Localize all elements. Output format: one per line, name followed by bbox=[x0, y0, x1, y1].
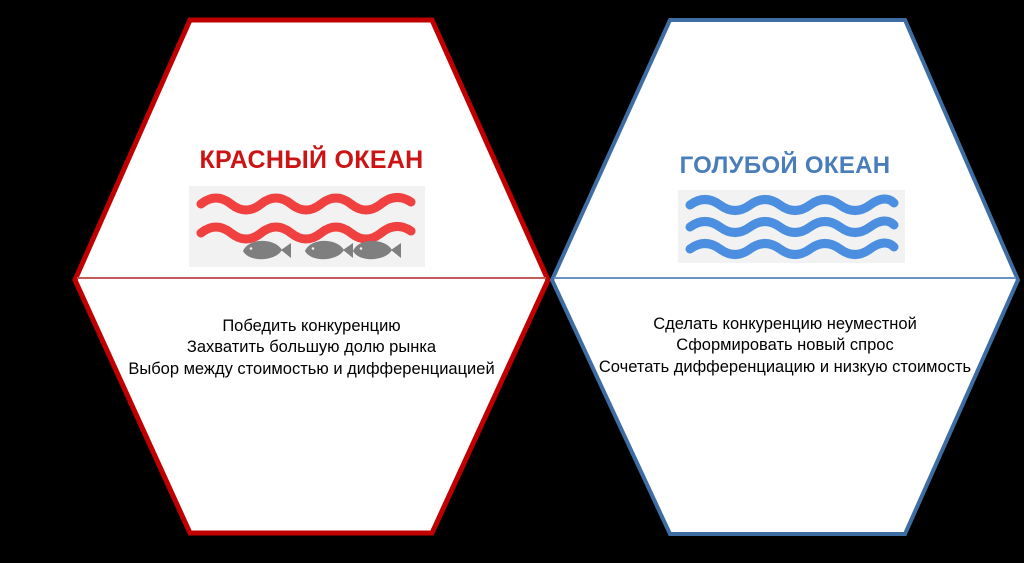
diagram-canvas: КРАСНЫЙ ОКЕАН bbox=[0, 0, 1024, 563]
red-hexagon-shape bbox=[0, 0, 560, 563]
red-fish-group bbox=[243, 241, 401, 259]
blue-wave-lines bbox=[690, 199, 894, 255]
red-ocean-hexagon[interactable] bbox=[0, 0, 560, 563]
blue-ocean-hexagon[interactable] bbox=[540, 0, 1024, 563]
blue-waves-graphic bbox=[678, 190, 905, 263]
fish-icon bbox=[243, 241, 291, 259]
red-ocean-body-text: Победить конкуренцию Захватить большую д… bbox=[75, 316, 548, 380]
fish-icon bbox=[305, 241, 353, 259]
blue-ocean-body-text: Сделать конкуренцию неуместной Сформиров… bbox=[552, 314, 1018, 378]
red-waves-fish-graphic bbox=[189, 186, 425, 267]
blue-ocean-waves-image bbox=[678, 190, 905, 263]
fish-icon bbox=[353, 241, 401, 259]
blue-hexagon-shape bbox=[540, 0, 1024, 563]
red-ocean-title: КРАСНЫЙ ОКЕАН bbox=[75, 146, 548, 175]
red-ocean-waves-fish-image bbox=[189, 186, 425, 267]
red-wave-lines bbox=[201, 197, 411, 239]
blue-ocean-title: ГОЛУБОЙ ОКЕАН bbox=[552, 152, 1018, 180]
red-hexagon-outline bbox=[75, 20, 548, 533]
